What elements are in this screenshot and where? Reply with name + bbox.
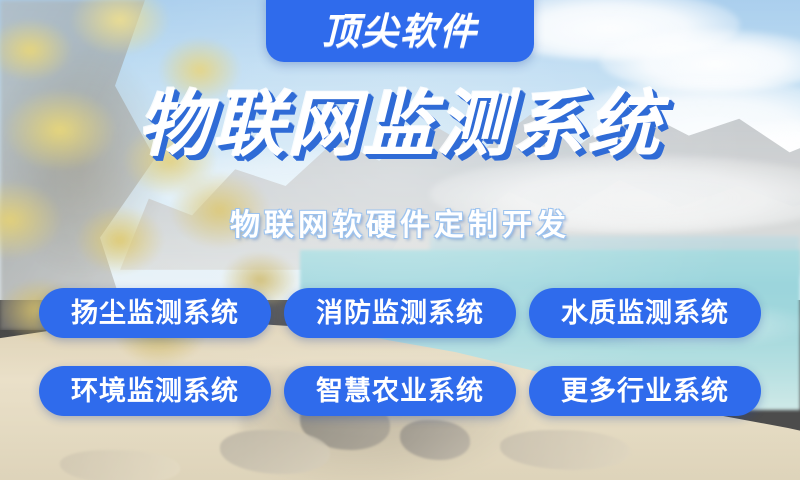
banner-content: 顶尖软件 物联网监测系统 物联网软硬件定制开发 扬尘监测系统 消防监测系统 水质… (0, 0, 800, 480)
category-pill-fire[interactable]: 消防监测系统 (284, 288, 516, 338)
category-pill-environment[interactable]: 环境监测系统 (39, 366, 271, 416)
page-title: 物联网监测系统 (0, 88, 800, 164)
category-pill-water[interactable]: 水质监测系统 (529, 288, 761, 338)
brand-badge[interactable]: 顶尖软件 (266, 0, 534, 62)
category-pill-agriculture[interactable]: 智慧农业系统 (284, 366, 516, 416)
category-pill-dust[interactable]: 扬尘监测系统 (39, 288, 271, 338)
category-pill-more[interactable]: 更多行业系统 (529, 366, 761, 416)
category-pill-grid: 扬尘监测系统 消防监测系统 水质监测系统 环境监测系统 智慧农业系统 更多行业系… (39, 288, 761, 416)
page-subtitle: 物联网软硬件定制开发 (0, 208, 800, 244)
brand-badge-label: 顶尖软件 (322, 7, 478, 50)
promo-banner: 顶尖软件 物联网监测系统 物联网软硬件定制开发 扬尘监测系统 消防监测系统 水质… (0, 0, 800, 480)
